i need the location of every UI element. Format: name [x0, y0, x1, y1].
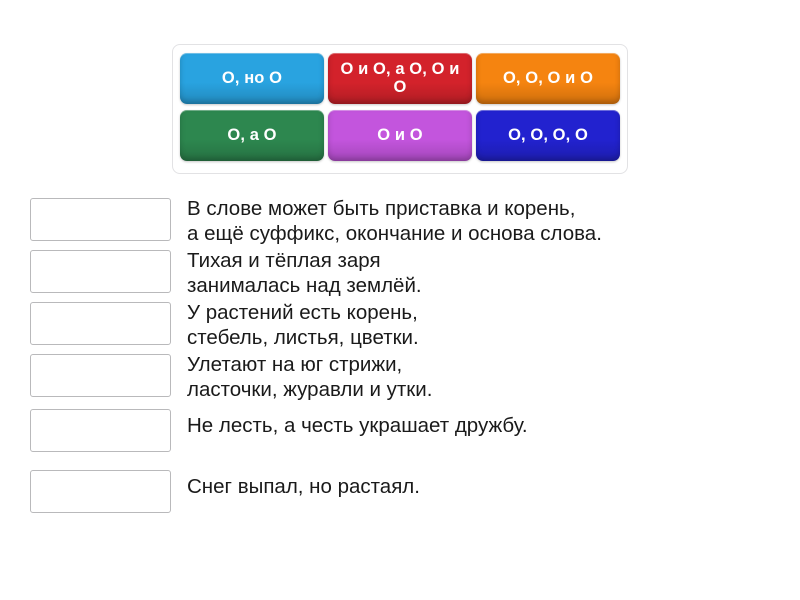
question-list: В слове может быть приставка и корень, а…: [0, 196, 800, 526]
answer-tile-label: О, а О: [227, 127, 276, 145]
question-row: У растений есть корень, стебель, листья,…: [0, 300, 800, 350]
question-text: Улетают на юг стрижи, ласточки, журавли …: [187, 352, 800, 402]
question-text: Тихая и тёплая заря занималась над землё…: [187, 248, 800, 298]
answer-dropzone-6[interactable]: [30, 470, 171, 513]
answer-tile-4[interactable]: О, а О: [180, 110, 324, 161]
answer-dropzone-4[interactable]: [30, 354, 171, 397]
question-text: У растений есть корень, стебель, листья,…: [187, 300, 800, 350]
question-row: Тихая и тёплая заря занималась над землё…: [0, 248, 800, 298]
answer-tile-1[interactable]: О, но О: [180, 53, 324, 104]
question-text: Не лесть, а честь украшает дружбу.: [187, 404, 800, 438]
question-row: Снег выпал, но растаял.: [0, 465, 800, 513]
question-row: Не лесть, а честь украшает дружбу.: [0, 404, 800, 452]
answer-tile-label: О и О, а О, О и О: [332, 61, 468, 97]
question-row: Улетают на юг стрижи, ласточки, журавли …: [0, 352, 800, 402]
answer-tile-2[interactable]: О и О, а О, О и О: [328, 53, 472, 104]
answer-tile-label: О и О: [377, 127, 422, 145]
answer-tile-label: О, О, О, О: [508, 127, 588, 145]
answer-dropzone-3[interactable]: [30, 302, 171, 345]
answer-dropzone-5[interactable]: [30, 409, 171, 452]
question-text: Снег выпал, но растаял.: [187, 465, 800, 499]
answer-tile-3[interactable]: О, О, О и О: [476, 53, 620, 104]
question-row: В слове может быть приставка и корень, а…: [0, 196, 800, 246]
answer-dropzone-2[interactable]: [30, 250, 171, 293]
answer-tile-bank: О, но ОО и О, а О, О и ОО, О, О и ОО, а …: [172, 44, 628, 174]
question-text: В слове может быть приставка и корень, а…: [187, 196, 800, 246]
answer-tile-6[interactable]: О, О, О, О: [476, 110, 620, 161]
answer-tile-5[interactable]: О и О: [328, 110, 472, 161]
answer-dropzone-1[interactable]: [30, 198, 171, 241]
activity-canvas: О, но ОО и О, а О, О и ОО, О, О и ОО, а …: [0, 0, 800, 600]
answer-tile-label: О, О, О и О: [503, 70, 593, 88]
answer-tile-label: О, но О: [222, 70, 282, 88]
